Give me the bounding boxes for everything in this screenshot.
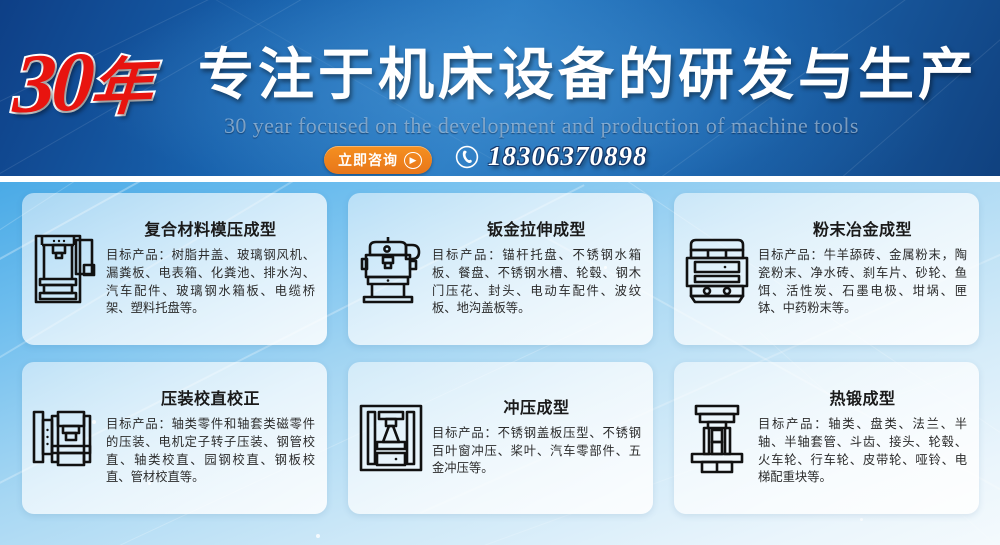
card-title: 钣金拉伸成型 [432, 220, 641, 240]
card-title: 冲压成型 [432, 398, 641, 418]
sheet-metal-drawing-press-icon [354, 229, 428, 309]
banner-header: 30年 专注于机床设备的研发与生产 30 year focused on the… [0, 0, 1000, 176]
card-description: 目标产品：牛羊舔砖、金属粉末，陶瓷粉末、净水砖、刹车片、砂轮、鱼饵、活性炭、石墨… [758, 247, 967, 317]
card-text: 热锻成型 目标产品：轴类、盘类、法兰、半轴、半轴套管、斗齿、接头、轮毂、火车轮、… [758, 389, 969, 486]
years-logo: 30年 [10, 27, 198, 143]
card-text: 压装校直校正 目标产品：轴类零件和轴套类磁零件的压装、电机定子转子压装、钢管校直… [106, 389, 317, 486]
service-card[interactable]: 粉末冶金成型 目标产品：牛羊舔砖、金属粉末，陶瓷粉末、净水砖、刹车片、砂轮、鱼饵… [674, 193, 979, 345]
card-title: 热锻成型 [758, 389, 967, 409]
card-title: 粉末冶金成型 [758, 220, 967, 240]
arrow-right-icon: ▶ [404, 152, 422, 169]
cards-section: 复合材料模压成型 目标产品：树脂井盖、玻璃钢风机、漏粪板、电表箱、化粪池、排水沟… [0, 182, 1000, 545]
consult-now-label: 立即咨询 [338, 150, 398, 170]
subheadline: 30 year focused on the development and p… [224, 113, 859, 139]
card-description: 目标产品：不锈钢盖板压型、不锈钢百叶窗冲压、桨叶、汽车零部件、五金冲压等。 [432, 425, 641, 478]
service-card[interactable]: 热锻成型 目标产品：轴类、盘类、法兰、半轴、半轴套管、斗齿、接头、轮毂、火车轮、… [674, 362, 979, 514]
card-description: 目标产品：锚杆托盘、不锈钢水箱板、餐盘、不锈钢水槽、轮毂、钢木门压花、封头、电动… [432, 247, 641, 317]
cards-grid: 复合材料模压成型 目标产品：树脂井盖、玻璃钢风机、漏粪板、电表箱、化粪池、排水沟… [0, 182, 1000, 545]
card-text: 冲压成型 目标产品：不锈钢盖板压型、不锈钢百叶窗冲压、桨叶、汽车零部件、五金冲压… [432, 398, 643, 478]
card-title: 压装校直校正 [106, 389, 315, 409]
powder-metallurgy-press-icon [680, 229, 754, 309]
phone-icon [455, 145, 479, 169]
banner-page: 30年 专注于机床设备的研发与生产 30 year focused on the… [0, 0, 1000, 545]
phone-number: 18306370898 [488, 141, 648, 172]
card-title: 复合材料模压成型 [106, 220, 315, 240]
years-unit: 年 [87, 53, 154, 123]
card-description: 目标产品：轴类零件和轴套类磁零件的压装、电机定子转子压装、钢管校直、轴类校直、园… [106, 416, 315, 486]
stamping-press-icon [354, 398, 428, 478]
card-text: 粉末冶金成型 目标产品：牛羊舔砖、金属粉末，陶瓷粉末、净水砖、刹车片、砂轮、鱼饵… [758, 220, 969, 317]
hot-forging-press-icon [680, 398, 754, 478]
headline: 专注于机床设备的研发与生产 [198, 44, 978, 108]
card-description: 目标产品：轴类、盘类、法兰、半轴、半轴套管、斗齿、接头、轮毂、火车轮、行车轮、皮… [758, 416, 967, 486]
compression-molding-press-icon [28, 229, 102, 309]
service-card[interactable]: 复合材料模压成型 目标产品：树脂井盖、玻璃钢风机、漏粪板、电表箱、化粪池、排水沟… [22, 193, 327, 345]
service-card[interactable]: 压装校直校正 目标产品：轴类零件和轴套类磁零件的压装、电机定子转子压装、钢管校直… [22, 362, 327, 514]
card-text: 钣金拉伸成型 目标产品：锚杆托盘、不锈钢水箱板、餐盘、不锈钢水槽、轮毂、钢木门压… [432, 220, 643, 317]
consult-now-button[interactable]: 立即咨询 ▶ [324, 146, 432, 174]
service-card[interactable]: 冲压成型 目标产品：不锈钢盖板压型、不锈钢百叶窗冲压、桨叶、汽车零部件、五金冲压… [348, 362, 653, 514]
service-card[interactable]: 钣金拉伸成型 目标产品：锚杆托盘、不锈钢水箱板、餐盘、不锈钢水槽、轮毂、钢木门压… [348, 193, 653, 345]
press-fit-straightening-icon [28, 398, 102, 478]
card-description: 目标产品：树脂井盖、玻璃钢风机、漏粪板、电表箱、化粪池、排水沟、汽车配件、玻璃钢… [106, 247, 315, 317]
years-number: 30 [11, 36, 94, 132]
phone-block[interactable]: 18306370898 [455, 141, 648, 172]
card-text: 复合材料模压成型 目标产品：树脂井盖、玻璃钢风机、漏粪板、电表箱、化粪池、排水沟… [106, 220, 317, 317]
